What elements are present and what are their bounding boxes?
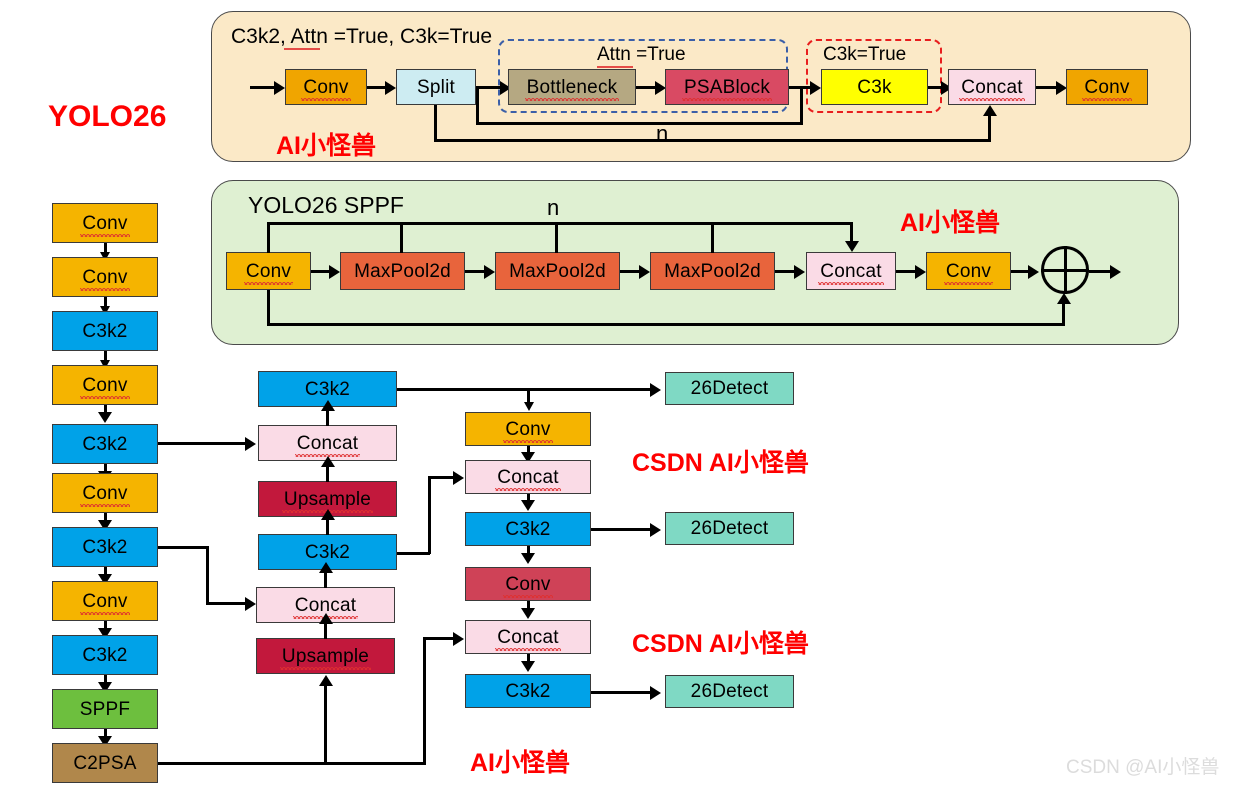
- neck-conn-c3k2mid-ups: [326, 518, 329, 535]
- node-label: Conv: [505, 575, 550, 594]
- c2psa-to-upsample-up: [324, 684, 327, 763]
- backbone-node-c3k2-8[interactable]: C3k2: [52, 635, 158, 675]
- backbone-node-c2psa[interactable]: C2PSA: [52, 743, 158, 783]
- backbone-node-c3k2-6[interactable]: C3k2: [52, 527, 158, 567]
- neck-c3k2top-detect-arrow: [650, 383, 661, 397]
- csdn-watermark: CSDN @AI小怪兽: [1066, 752, 1219, 779]
- head-node-concat-top[interactable]: Concat: [465, 460, 591, 494]
- page-title: YOLO26: [48, 100, 166, 134]
- node-label: Concat: [295, 596, 356, 615]
- node-label: C3k: [857, 78, 891, 97]
- detect-head-2[interactable]: 26Detect: [665, 512, 794, 545]
- sppf-maxpool-3[interactable]: MaxPool2d: [650, 252, 775, 290]
- neck-conn-concatbot-c3k2mid: [324, 571, 327, 588]
- node-label: Concat: [497, 468, 558, 487]
- node-label: Bottleneck: [527, 78, 618, 97]
- node-label: Split: [417, 78, 455, 97]
- neck-arrow-concatbot-c3k2mid: [319, 562, 333, 573]
- sppf-top-bracket: [267, 222, 852, 225]
- head-detect2-arrow: [650, 523, 661, 537]
- node-label: Concat: [961, 78, 1022, 97]
- sppf-tap-conv: [267, 222, 270, 253]
- sppf-conv-out[interactable]: Conv: [926, 252, 1011, 290]
- skip-split-down: [434, 105, 437, 142]
- sppf-output-arrow: [1110, 265, 1121, 279]
- node-label: PSABlock: [684, 78, 770, 97]
- n-loop-up: [476, 86, 479, 123]
- sppf-bracket-arrow: [845, 241, 859, 252]
- sppf-residual-up: [1062, 302, 1065, 325]
- node-label: Concat: [297, 434, 358, 453]
- arrow-sppfconv-pool1: [329, 265, 340, 279]
- node-label: C3k2: [82, 646, 127, 665]
- node-label: SPPF: [80, 700, 130, 719]
- neck-conn-upsbot-concatbot: [324, 622, 327, 639]
- head-node-c3k2-mid[interactable]: C3k2: [465, 512, 591, 546]
- backbone-node-conv-5[interactable]: Conv: [52, 473, 158, 513]
- arrow-concat-sppfconv2: [915, 265, 926, 279]
- n-loop-down: [800, 86, 803, 125]
- sppf-residual-add-icon: [1041, 246, 1089, 294]
- node-label: Conv: [246, 262, 291, 281]
- c3k2-conv-out[interactable]: Conv: [1066, 69, 1148, 105]
- backbone-node-conv-3[interactable]: Conv: [52, 365, 158, 405]
- head-node-concat-bot[interactable]: Concat: [465, 620, 591, 654]
- c3k2-concat[interactable]: Concat: [948, 69, 1036, 105]
- c3k2-entry-arrow: [274, 81, 285, 95]
- neck-c3k2mid-to-concat: [428, 476, 456, 479]
- skip-split-right: [434, 139, 990, 142]
- n-loop-left: [476, 122, 802, 125]
- node-label: MaxPool2d: [354, 262, 451, 281]
- detect-head-1[interactable]: 26Detect: [665, 372, 794, 405]
- sppf-bracket-to-concat: [850, 222, 853, 242]
- sppf-maxpool-1[interactable]: MaxPool2d: [340, 252, 465, 290]
- sppf-tap-pool3: [711, 222, 714, 253]
- brand-watermark-4: CSDN AI小怪兽: [632, 624, 809, 660]
- c2psa-to-head-up: [423, 637, 426, 763]
- node-label: Conv: [946, 262, 991, 281]
- neck-c3k2mid-up: [428, 476, 431, 554]
- node-label: MaxPool2d: [664, 262, 761, 281]
- node-label: C3k2: [505, 682, 550, 701]
- backbone-node-conv-1[interactable]: Conv: [52, 257, 158, 297]
- neck-arrow-concat-c3k2top: [321, 400, 335, 411]
- neck-c3k2top-to-detect: [397, 388, 653, 391]
- detect-head-3[interactable]: 26Detect: [665, 675, 794, 708]
- head-detect3-arrow: [650, 686, 661, 700]
- arrow-pool1-pool2: [484, 265, 495, 279]
- head-c3k2mid-to-detect2: [591, 528, 653, 531]
- backbone-node-conv-0[interactable]: Conv: [52, 203, 158, 243]
- node-label: MaxPool2d: [509, 262, 606, 281]
- arrow-pool2-pool3: [639, 265, 650, 279]
- attn-true-label: Attn =True: [597, 44, 686, 66]
- brand-watermark-3: CSDN AI小怪兽: [632, 443, 809, 479]
- skip-bb6-arrow: [245, 597, 256, 611]
- node-label: 26Detect: [691, 682, 769, 701]
- sppf-residual-arrow: [1057, 293, 1071, 304]
- node-label: Conv: [82, 214, 127, 233]
- neck-arrow-ups-concattop: [321, 456, 335, 467]
- head-arrow-concat-c3k2: [521, 500, 535, 511]
- attn-label-squiggle: [597, 66, 633, 68]
- c3k2-psablock[interactable]: PSABlock: [665, 69, 789, 105]
- skip-to-concat-up: [988, 114, 991, 142]
- sppf-residual-right: [267, 323, 1065, 326]
- head-arrow-convmid-concatbot: [521, 608, 535, 619]
- c2psa-to-head-right: [423, 637, 456, 640]
- head-node-c3k2-bot[interactable]: C3k2: [465, 674, 591, 708]
- node-label: 26Detect: [691, 519, 769, 538]
- head-arrow-concatbot-c3k2bot: [521, 661, 535, 672]
- plus-horizontal: [1041, 269, 1089, 272]
- c3k2-bottleneck[interactable]: Bottleneck: [508, 69, 636, 105]
- brand-watermark-5: AI小怪兽: [470, 743, 570, 779]
- bb-arrow-3: [98, 412, 112, 423]
- c3k2-entry-line: [250, 86, 276, 89]
- neck-node-upsample-bot[interactable]: Upsample: [256, 638, 395, 674]
- sppf-tap-pool1: [400, 222, 403, 253]
- node-label: Concat: [497, 628, 558, 647]
- sppf-maxpool-2[interactable]: MaxPool2d: [495, 252, 620, 290]
- neck-arrow-upsbot-concatbot: [319, 613, 333, 624]
- diagram-canvas: C3k2, Attn =True, C3k=True AI小怪兽 Attn =T…: [0, 0, 1250, 787]
- node-label: C3k2: [305, 543, 350, 562]
- c2psa-to-head-arrow: [453, 632, 464, 646]
- c3k2-c3k[interactable]: C3k: [821, 69, 928, 105]
- node-label: Upsample: [284, 490, 371, 509]
- node-label: Upsample: [282, 647, 369, 666]
- node-label: Concat: [820, 262, 881, 281]
- head-node-conv-mid[interactable]: Conv: [465, 567, 591, 601]
- sppf-concat[interactable]: Concat: [806, 252, 896, 290]
- head-node-conv-top[interactable]: Conv: [465, 412, 591, 446]
- neck-branch-arrow: [524, 402, 534, 411]
- skip-bb4-arrow: [245, 437, 256, 451]
- conn-conv-split: [367, 86, 387, 89]
- node-label: Conv: [505, 420, 550, 439]
- backbone-node-c3k2-2[interactable]: C3k2: [52, 311, 158, 351]
- arrow-pool3-concat: [794, 265, 805, 279]
- skip-to-concat-arrow: [983, 105, 997, 116]
- c2psa-to-upsample-arrow: [319, 675, 333, 686]
- neck-arrow-c3k2mid-ups: [321, 509, 335, 520]
- backbone-node-c3k2-4[interactable]: C3k2: [52, 424, 158, 464]
- node-label: Conv: [1084, 78, 1129, 97]
- sppf-tap-pool2: [555, 222, 558, 253]
- sppf-conv-in[interactable]: Conv: [226, 252, 311, 290]
- c3k2-repeat-n: n: [656, 121, 668, 147]
- brand-watermark-1: AI小怪兽: [276, 126, 376, 162]
- backbone-node-conv-7[interactable]: Conv: [52, 581, 158, 621]
- skip-bb6-down: [206, 546, 209, 604]
- node-label: Conv: [303, 78, 348, 97]
- head-arrow-c3k2-conv: [521, 553, 535, 564]
- node-label: 26Detect: [691, 379, 769, 398]
- caption-squiggle: [284, 48, 320, 50]
- c3k2-panel-caption: C3k2, Attn =True, C3k=True: [231, 25, 492, 49]
- node-label: Conv: [82, 376, 127, 395]
- skip-bb6-to-concat: [206, 602, 248, 605]
- node-label: C2PSA: [73, 754, 136, 773]
- node-label: C3k2: [82, 322, 127, 341]
- node-label: Conv: [82, 484, 127, 503]
- c2psa-out-right: [158, 762, 426, 765]
- node-label: C3k2: [505, 520, 550, 539]
- node-label: Conv: [82, 268, 127, 287]
- sppf-panel-caption: YOLO26 SPPF: [248, 192, 404, 219]
- neck-c3k2mid-right: [397, 552, 430, 555]
- neck-c3k2mid-arrow: [453, 471, 464, 485]
- c3k2-split[interactable]: Split: [396, 69, 476, 105]
- backbone-node-sppf[interactable]: SPPF: [52, 689, 158, 729]
- arrow-conv-split: [385, 81, 396, 95]
- head-c3k2bot-to-detect3: [591, 691, 653, 694]
- node-label: C3k2: [305, 380, 350, 399]
- skip-bb6-right: [158, 546, 209, 549]
- node-label: C3k2: [82, 435, 127, 454]
- c3k2-conv-in[interactable]: Conv: [285, 69, 367, 105]
- skip-bb4-to-concat-top: [158, 442, 248, 445]
- brand-watermark-2: AI小怪兽: [900, 203, 1000, 239]
- node-label: C3k2: [82, 538, 127, 557]
- node-label: Conv: [82, 592, 127, 611]
- c3k-true-label: C3k=True: [823, 44, 906, 66]
- sppf-residual-down: [267, 290, 270, 326]
- neck-conn-ups-concattop: [326, 465, 329, 482]
- arrow-psa-c3k: [810, 81, 821, 95]
- arrow-sppfconv2-add: [1028, 265, 1039, 279]
- sppf-repeat-n: n: [547, 195, 559, 221]
- neck-conn-concat-c3k2top: [326, 409, 329, 426]
